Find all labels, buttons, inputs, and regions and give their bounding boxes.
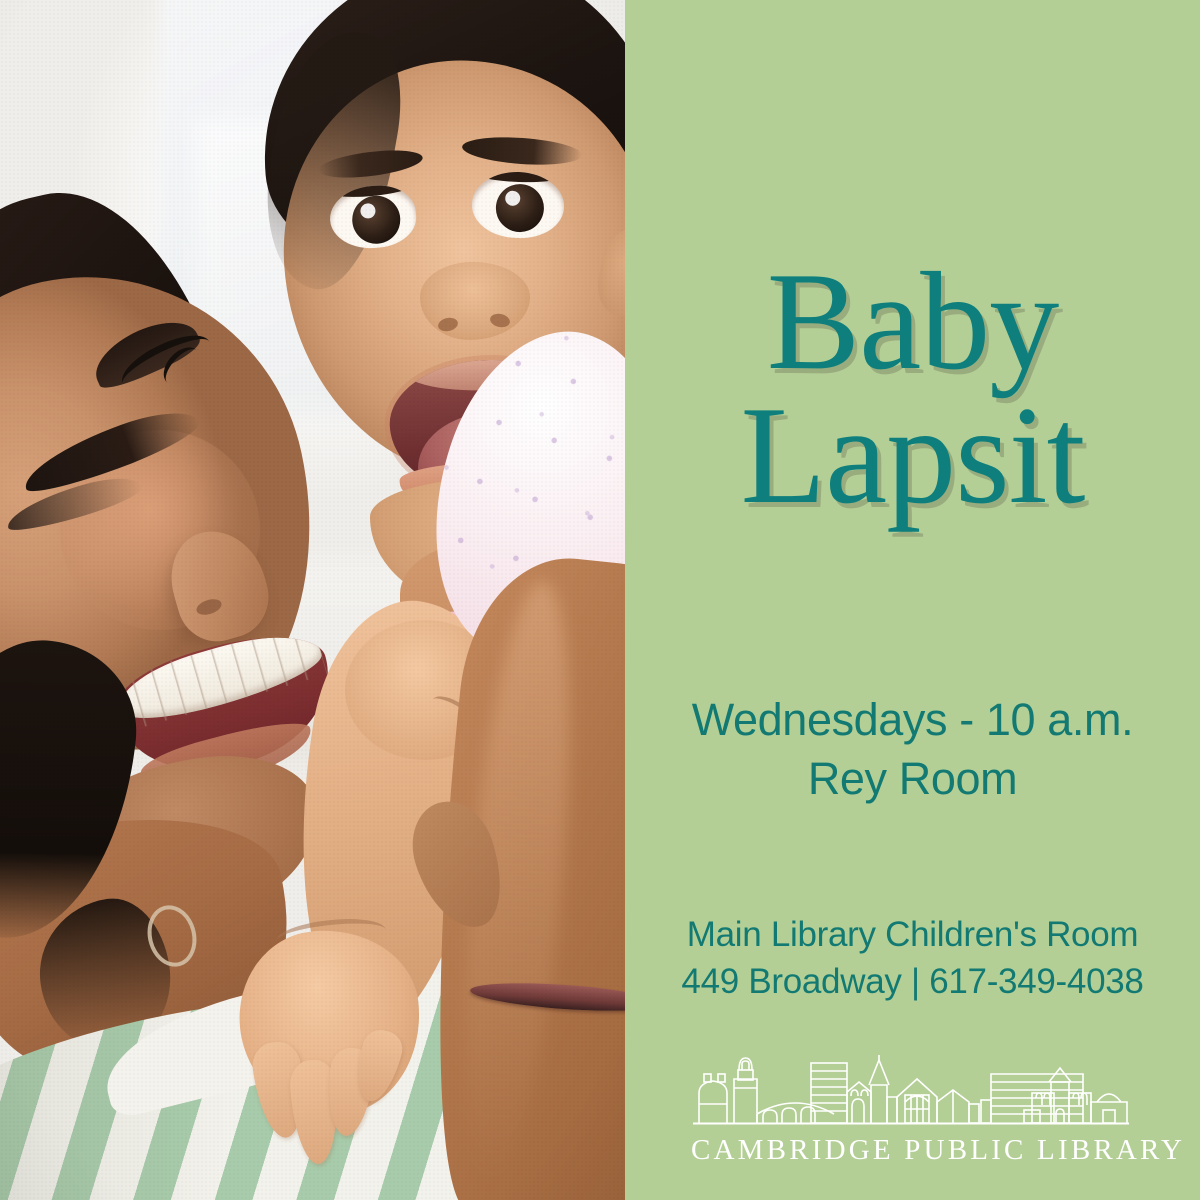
title-line-2: Lapsit — [625, 389, 1200, 523]
cambridge-skyline-icon — [691, 1052, 1131, 1130]
content-panel: Baby Lapsit Wednesdays - 10 a.m. Rey Roo… — [625, 0, 1200, 1200]
location-block: Main Library Children's Room 449 Broadwa… — [625, 912, 1200, 1005]
location-name: Main Library Children's Room — [625, 912, 1200, 959]
baby-iris-left — [350, 194, 402, 246]
schedule-block: Wednesdays - 10 a.m. Rey Room — [625, 690, 1200, 809]
library-logo: CAMBRIDGE PUBLIC LIBRARY — [691, 1052, 1131, 1167]
hero-photo — [0, 0, 625, 1200]
schedule-room: Rey Room — [625, 749, 1200, 808]
baby-iris-right — [495, 183, 545, 233]
logo-wordmark: CAMBRIDGE PUBLIC LIBRARY — [691, 1134, 1131, 1167]
schedule-when: Wednesdays - 10 a.m. — [625, 690, 1200, 749]
poster-canvas: Baby Lapsit Wednesdays - 10 a.m. Rey Roo… — [0, 0, 1200, 1200]
page-title: Baby Lapsit — [625, 255, 1200, 524]
title-line-1: Baby — [625, 255, 1200, 389]
location-address-phone: 449 Broadway | 617-349-4038 — [625, 959, 1200, 1006]
